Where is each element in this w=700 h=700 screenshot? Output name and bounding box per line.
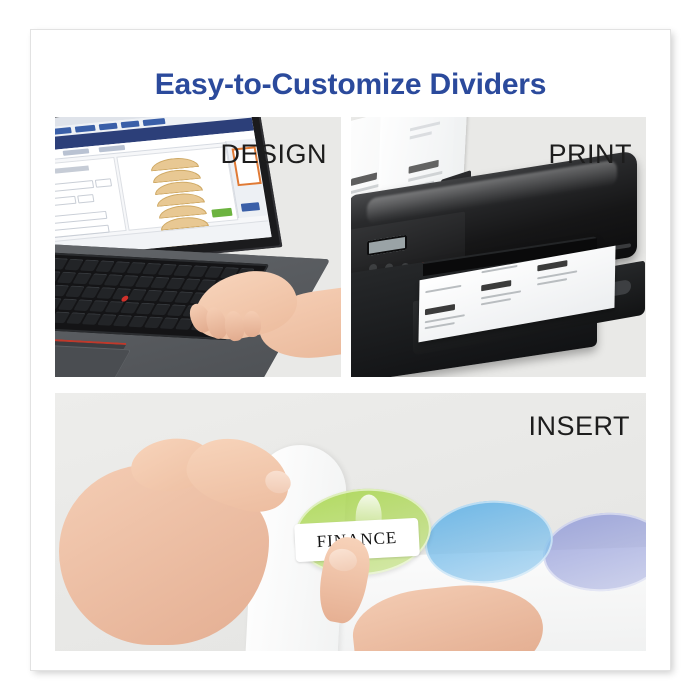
app-primary-button[interactable] xyxy=(211,208,232,218)
right-hand xyxy=(313,543,543,651)
left-hand xyxy=(79,423,339,651)
finger xyxy=(243,311,262,338)
panel-print: PRINT xyxy=(351,117,646,377)
screenshot-stage: Easy-to-Customize Dividers xyxy=(0,0,700,700)
form-heading-placeholder xyxy=(55,165,89,173)
right-palm xyxy=(349,577,547,651)
app-form-column xyxy=(55,157,127,239)
product-image-card: Easy-to-Customize Dividers xyxy=(31,30,670,670)
sidebar-action-button[interactable] xyxy=(241,202,260,212)
panel-label-design: DESIGN xyxy=(220,139,327,170)
panel-insert: FINANCE INSERT xyxy=(55,393,646,651)
page-title: Easy-to-Customize Dividers xyxy=(31,68,670,102)
printer-lcd-display xyxy=(367,235,407,256)
hand-on-keyboard xyxy=(185,259,341,377)
panel-label-print: PRINT xyxy=(549,139,633,170)
panel-label-insert: INSERT xyxy=(528,411,630,442)
panel-design: DESIGN xyxy=(55,117,341,377)
